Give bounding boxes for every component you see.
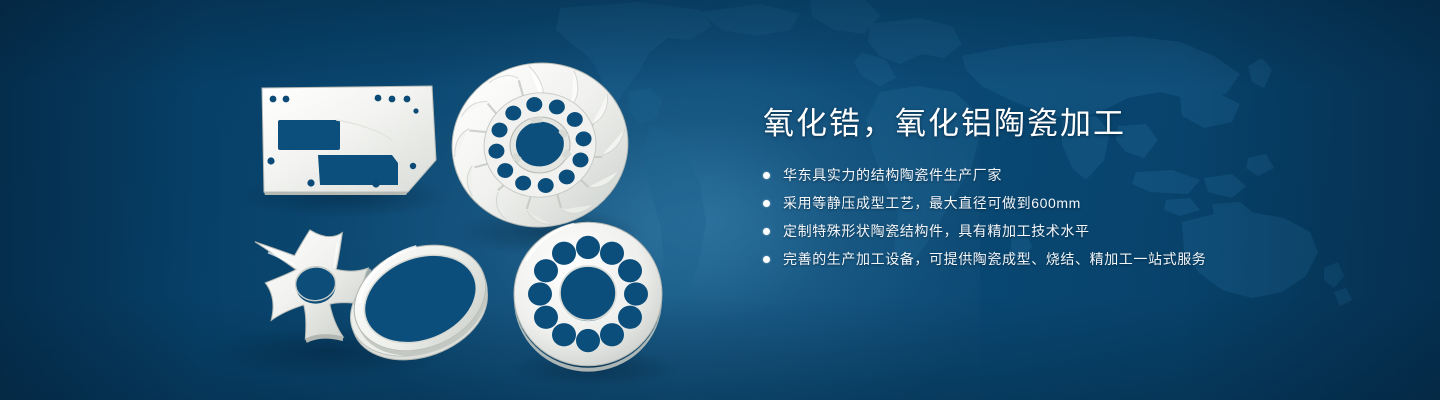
page-title: 氧化锆，氧化铝陶瓷加工	[763, 104, 1363, 144]
bullet-dot-icon	[763, 200, 770, 207]
list-item-label: 华东具实力的结构陶瓷件生产厂家	[783, 166, 1002, 185]
bullet-dot-icon	[763, 228, 770, 235]
list-item: 完善的生产加工设备，可提供陶瓷成型、烧结、精加工一站式服务	[763, 250, 1363, 269]
ceramic-perforated-disc	[514, 222, 662, 371]
ceramic-plate-with-cutouts	[262, 86, 436, 195]
banner-copy: 氧化锆，氧化铝陶瓷加工 华东具实力的结构陶瓷件生产厂家 采用等静压成型工艺，最大…	[763, 104, 1363, 269]
list-item-label: 采用等静压成型工艺，最大直径可做到600mm	[783, 194, 1081, 213]
ceramic-products-hero-banner: 氧化锆，氧化铝陶瓷加工 华东具实力的结构陶瓷件生产厂家 采用等静压成型工艺，最大…	[0, 0, 1440, 400]
list-item: 华东具实力的结构陶瓷件生产厂家	[763, 166, 1363, 185]
bullet-dot-icon	[763, 256, 770, 263]
list-item-label: 完善的生产加工设备，可提供陶瓷成型、烧结、精加工一站式服务	[783, 250, 1206, 269]
list-item: 定制特殊形状陶瓷结构件，具有精加工技术水平	[763, 222, 1363, 241]
feature-list: 华东具实力的结构陶瓷件生产厂家 采用等静压成型工艺，最大直径可做到600mm 定…	[763, 166, 1363, 269]
ceramic-products-group	[0, 0, 720, 400]
bullet-dot-icon	[763, 172, 770, 179]
ceramic-impeller-vaned-wheel	[441, 52, 638, 239]
list-item-label: 定制特殊形状陶瓷结构件，具有精加工技术水平	[783, 222, 1090, 241]
list-item: 采用等静压成型工艺，最大直径可做到600mm	[763, 194, 1363, 213]
